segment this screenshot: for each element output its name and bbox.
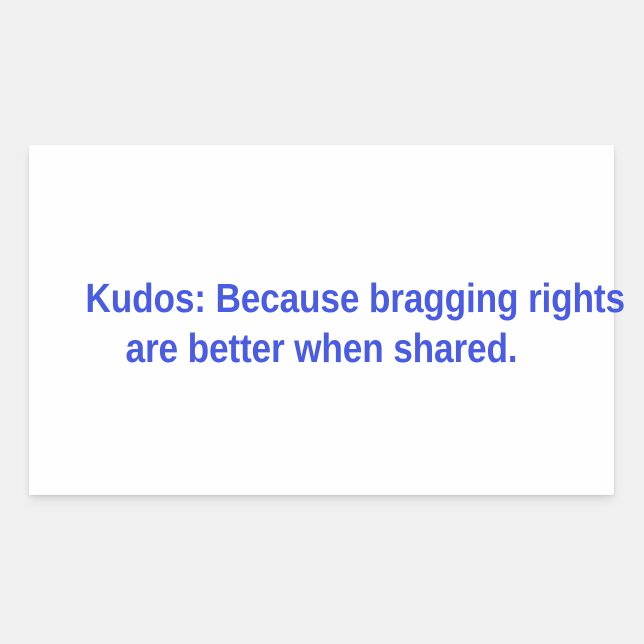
rectangle-sticker: Kudos: Because bragging rights are bette… [29, 145, 614, 495]
sticker-text-line-1: Kudos: Because bragging rights [85, 273, 557, 323]
product-image-canvas: Kudos: Because bragging rights are bette… [0, 0, 644, 644]
sticker-text-block: Kudos: Because bragging rights are bette… [29, 273, 614, 373]
sticker-text-line-2: are better when shared. [85, 323, 557, 373]
